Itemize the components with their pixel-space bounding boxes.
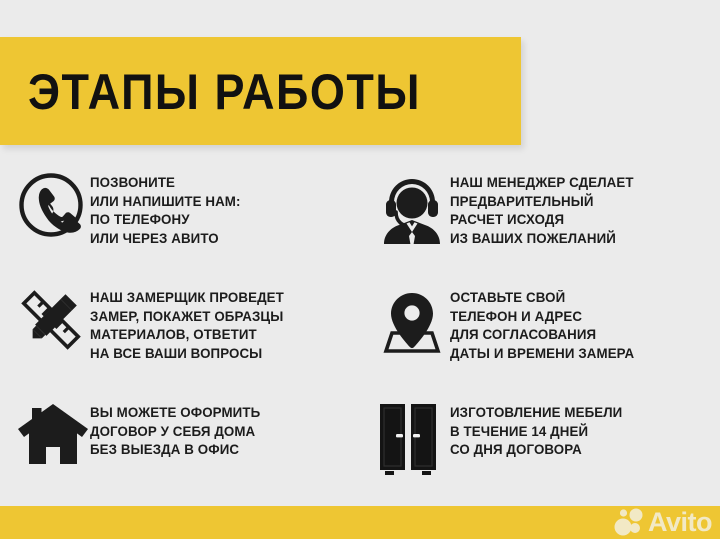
poster-canvas: ЭТАПЫ РАБОТЫ ПОЗВОНИТЕ ИЛИ НАПИШИТЕ НАМ:…: [0, 0, 720, 539]
avito-logo-dots: [614, 507, 646, 537]
bottom-accent-band: Avito: [0, 506, 720, 539]
avito-watermark: Avito: [614, 507, 712, 537]
house-icon: [18, 398, 90, 476]
step-item-call: ПОЗВОНИТЕ ИЛИ НАПИШИТЕ НАМ: ПО ТЕЛЕФОНУ …: [18, 168, 358, 248]
step-item-measure: НАШ ЗАМЕРЩИК ПРОВЕДЕТ ЗАМЕР, ПОКАЖЕТ ОБР…: [18, 283, 358, 363]
step-item-text: НАШ ЗАМЕРЩИК ПРОВЕДЕТ ЗАМЕР, ПОКАЖЕТ ОБР…: [90, 283, 284, 363]
avito-wordmark: Avito: [648, 509, 712, 536]
title-banner: ЭТАПЫ РАБОТЫ: [0, 37, 521, 145]
step-item-production: ИЗГОТОВЛЕНИЕ МЕБЕЛИ В ТЕЧЕНИЕ 14 ДНЕЙ СО…: [378, 398, 708, 476]
step-item-text: НАШ МЕНЕДЖЕР СДЕЛАЕТ ПРЕДВАРИТЕЛЬНЫЙ РАС…: [450, 168, 634, 248]
step-item-home-contract: ВЫ МОЖЕТЕ ОФОРМИТЬ ДОГОВОР У СЕБЯ ДОМА Б…: [18, 398, 358, 476]
ruler-and-pencil-icon: [18, 283, 90, 361]
step-item-text: ВЫ МОЖЕТЕ ОФОРМИТЬ ДОГОВОР У СЕБЯ ДОМА Б…: [90, 398, 260, 460]
page-title: ЭТАПЫ РАБОТЫ: [28, 66, 421, 116]
step-item-text: ИЗГОТОВЛЕНИЕ МЕБЕЛИ В ТЕЧЕНИЕ 14 ДНЕЙ СО…: [450, 398, 622, 460]
step-item-text: ПОЗВОНИТЕ ИЛИ НАПИШИТЕ НАМ: ПО ТЕЛЕФОНУ …: [90, 168, 241, 248]
steps-grid: ПОЗВОНИТЕ ИЛИ НАПИШИТЕ НАМ: ПО ТЕЛЕФОНУ …: [0, 168, 720, 498]
step-item-address: ОСТАВЬТЕ СВОЙ ТЕЛЕФОН И АДРЕС ДЛЯ СОГЛАС…: [378, 283, 708, 363]
headset-operator-icon: [378, 168, 450, 246]
step-item-text: ОСТАВЬТЕ СВОЙ ТЕЛЕФОН И АДРЕС ДЛЯ СОГЛАС…: [450, 283, 634, 363]
step-item-manager: НАШ МЕНЕДЖЕР СДЕЛАЕТ ПРЕДВАРИТЕЛЬНЫЙ РАС…: [378, 168, 708, 248]
phone-in-circle-icon: [18, 168, 90, 246]
map-pin-icon: [378, 283, 450, 361]
wardrobe-icon: [378, 398, 450, 476]
